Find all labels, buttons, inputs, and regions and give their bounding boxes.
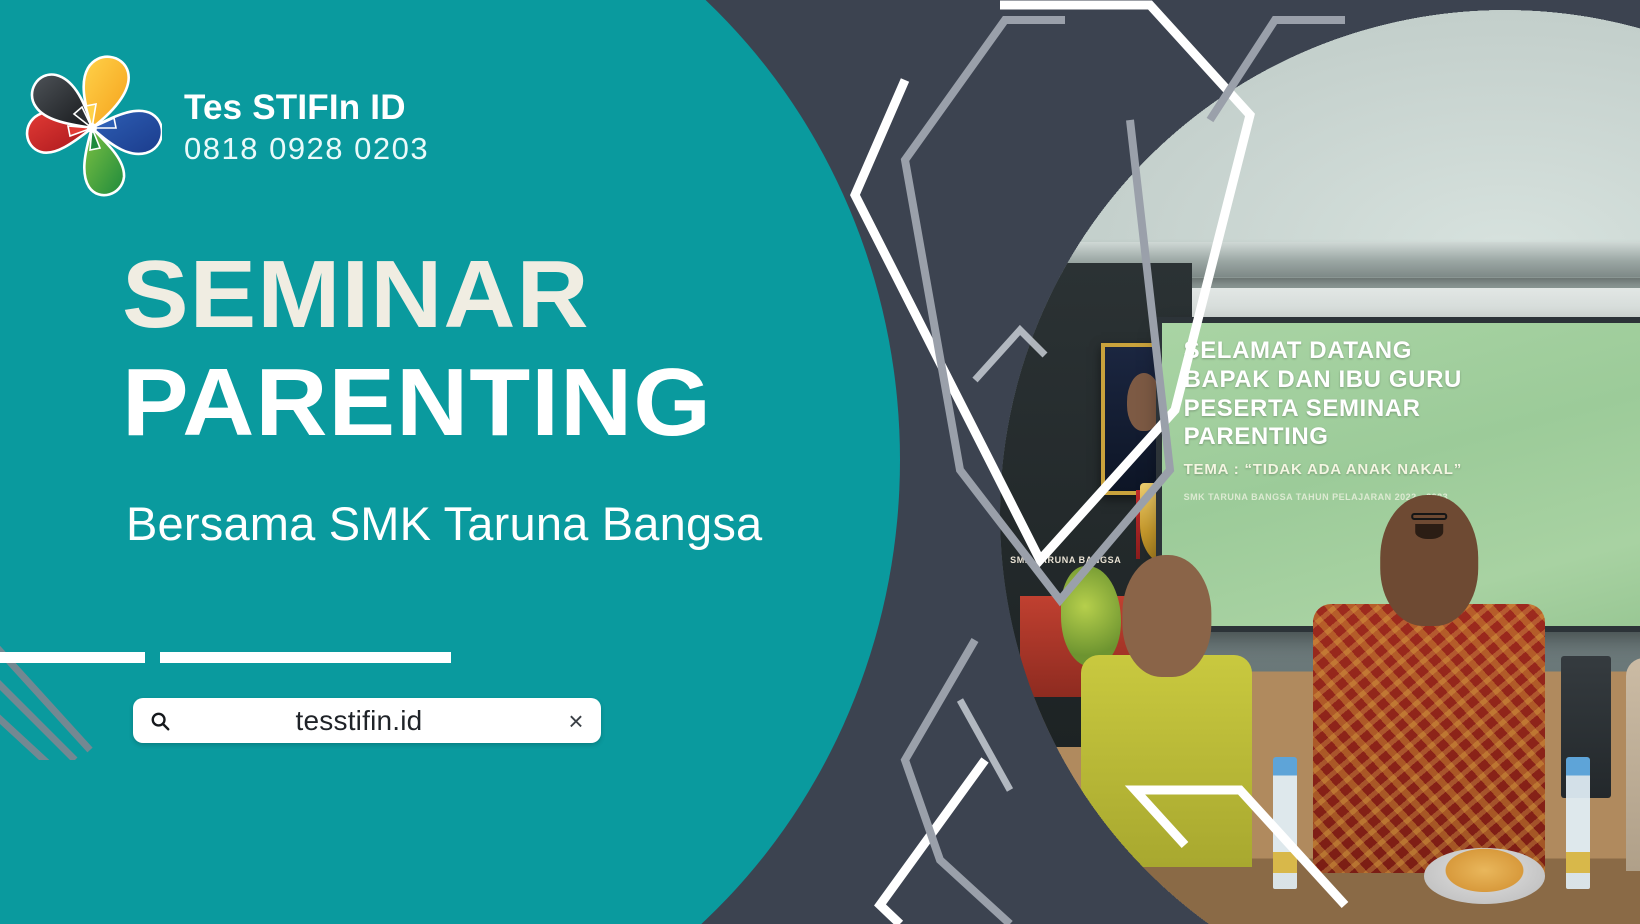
title-line-parenting: PARENTING bbox=[122, 356, 912, 450]
left-content: Tes STIFIn ID 0818 0928 0203 SEMINAR PAR… bbox=[0, 0, 900, 924]
brand-block: Tes STIFIn ID 0818 0928 0203 bbox=[22, 52, 429, 200]
search-input[interactable]: tesstifin.id bbox=[171, 705, 565, 737]
stifin-flower-logo-icon bbox=[22, 52, 162, 200]
brand-name: Tes STIFIn ID bbox=[184, 89, 429, 128]
poster-canvas: SMK TARUNA BANGSA SELAMAT DATANG BAPAK D… bbox=[0, 0, 1640, 924]
subtitle: Bersama SMK Taruna Bangsa bbox=[126, 496, 762, 551]
page-title: SEMINAR PARENTING bbox=[122, 248, 882, 450]
search-icon bbox=[149, 710, 171, 732]
search-bar[interactable]: tesstifin.id × bbox=[133, 698, 601, 743]
brand-phone: 0818 0928 0203 bbox=[184, 130, 429, 169]
divider-short bbox=[0, 652, 145, 663]
logo-svg bbox=[22, 52, 162, 200]
divider-long bbox=[160, 652, 451, 663]
title-line-seminar: SEMINAR bbox=[122, 248, 912, 342]
clear-search-icon[interactable]: × bbox=[565, 708, 587, 734]
brand-text: Tes STIFIn ID 0818 0928 0203 bbox=[184, 83, 429, 169]
